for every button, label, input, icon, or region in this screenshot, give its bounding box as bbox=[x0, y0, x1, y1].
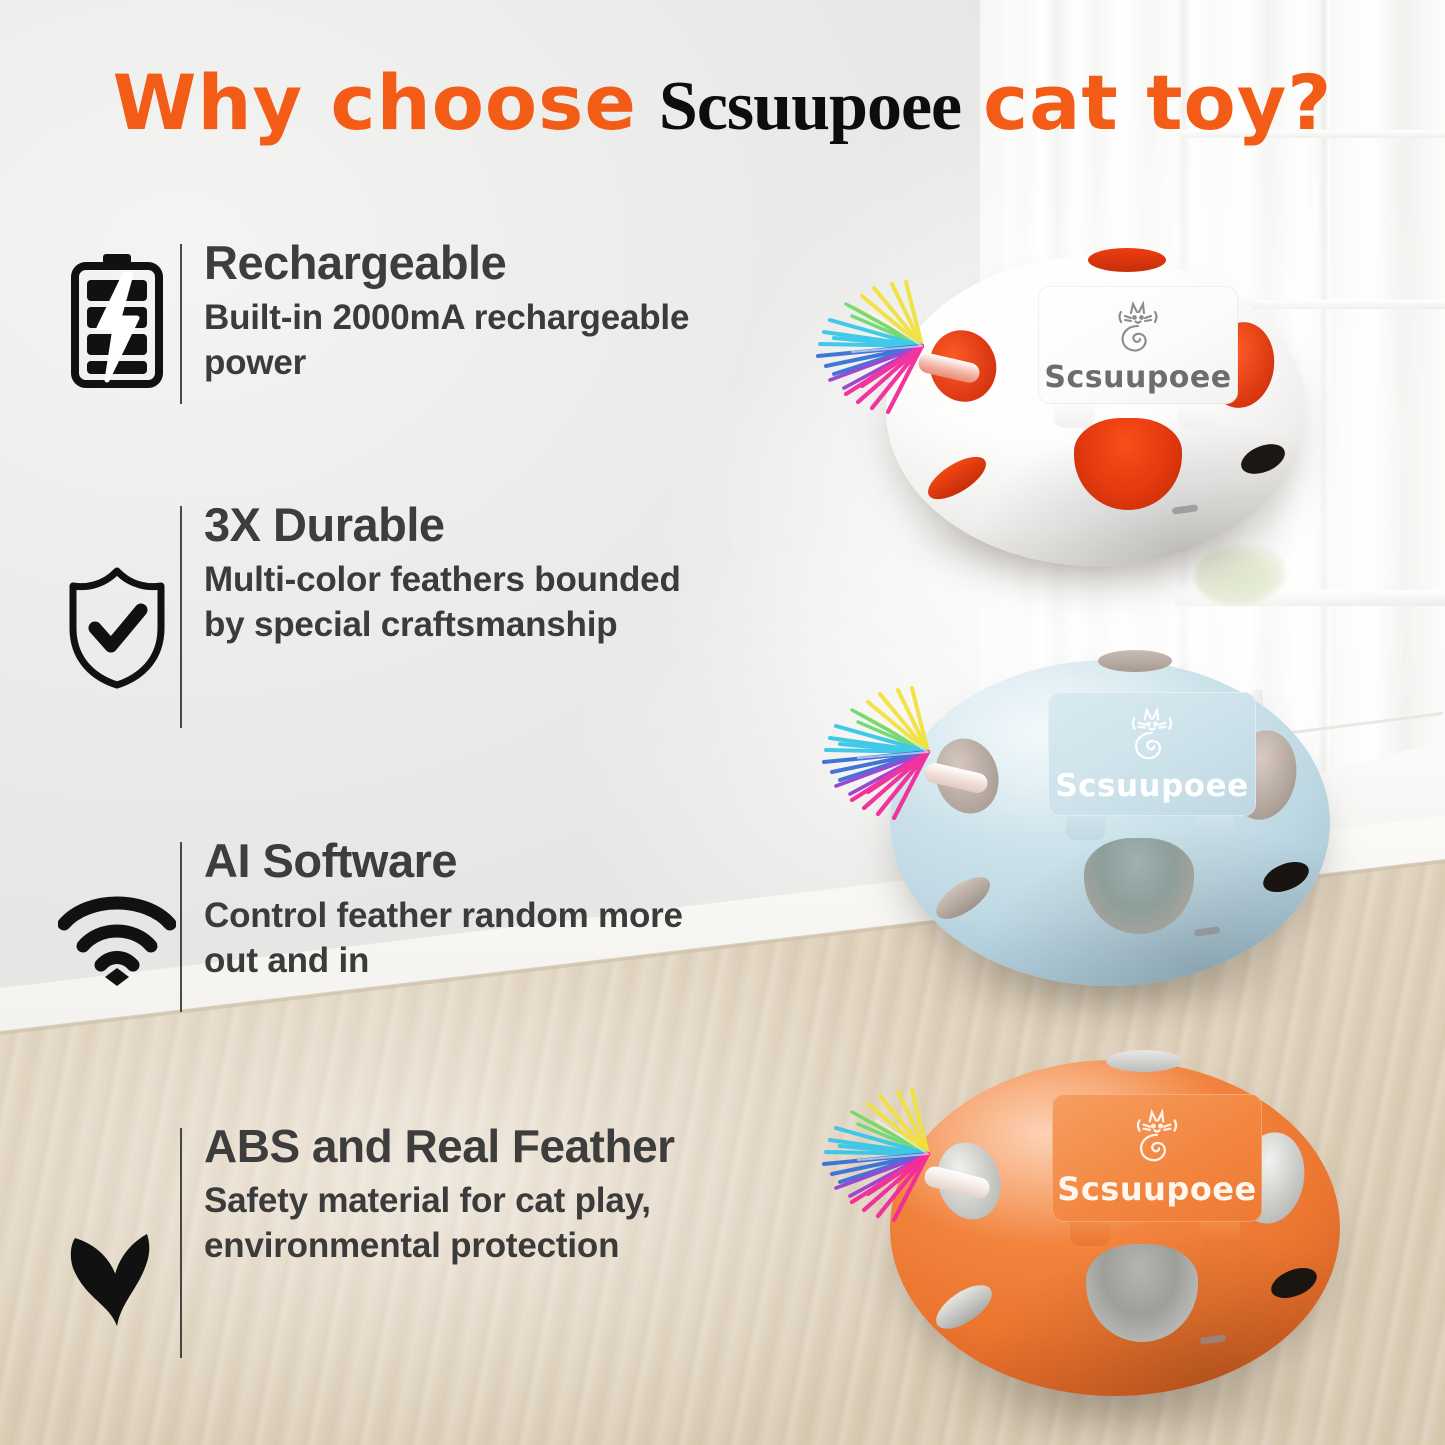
toy-hole-top bbox=[1088, 248, 1166, 272]
wifi-icon bbox=[58, 836, 176, 986]
feature-divider bbox=[180, 842, 182, 1012]
brand-wordmark: Scsuupoee bbox=[1038, 360, 1238, 395]
feature-description: Control feather random more out and in bbox=[204, 893, 724, 984]
title-brand: Scsuupoee bbox=[659, 68, 961, 145]
infographic-canvas: Why chooseScsuupoeecat toy? Rechargeable… bbox=[0, 0, 1445, 1445]
toy-lid-notch-left bbox=[1066, 816, 1106, 840]
rainbow-feather bbox=[806, 1084, 976, 1224]
feature-description: Safety material for cat play, environmen… bbox=[204, 1178, 674, 1269]
toy-lid-notch-right bbox=[1194, 816, 1234, 840]
leaf-icon bbox=[58, 1122, 176, 1330]
orange-cat-toy: Scsuupoee bbox=[820, 1046, 1380, 1436]
blue-cat-toy: Scsuupoee bbox=[828, 646, 1368, 1016]
brand-cat-logo bbox=[1123, 1108, 1191, 1168]
feature-description: Multi-color feathers bounded by special … bbox=[204, 557, 718, 648]
rainbow-feather bbox=[800, 276, 970, 416]
feature-title: ABS and Real Feather bbox=[204, 1122, 778, 1172]
feature-divider bbox=[180, 244, 182, 404]
feature-title: Rechargeable bbox=[204, 238, 718, 289]
white-cat-toy: Scsuupoee bbox=[858, 238, 1318, 568]
toy-lid-notch-left bbox=[1054, 404, 1094, 428]
feature-title: AI Software bbox=[204, 836, 738, 887]
brand-cat-logo bbox=[1118, 706, 1186, 766]
feature-ai-software: AI Software Control feather random more … bbox=[58, 836, 738, 1012]
feature-abs-real-feather: ABS and Real Feather Safety material for… bbox=[58, 1122, 778, 1358]
feature-divider bbox=[180, 1128, 182, 1358]
toy-lid-notch-left bbox=[1070, 1222, 1110, 1246]
brand-wordmark: Scsuupoee bbox=[1048, 768, 1256, 804]
feature-title: 3X Durable bbox=[204, 500, 718, 551]
toy-lid-notch-right bbox=[1178, 404, 1218, 428]
brand-wordmark: Scsuupoee bbox=[1052, 1170, 1262, 1208]
feature-description: Built-in 2000mA rechargeable power bbox=[204, 295, 718, 386]
feature-divider bbox=[180, 506, 182, 728]
battery-icon bbox=[58, 238, 176, 388]
feature-rechargeable: Rechargeable Built-in 2000mA rechargeabl… bbox=[58, 238, 718, 404]
title-part-2: cat toy? bbox=[983, 58, 1332, 147]
title-part-1: Why choose bbox=[113, 58, 637, 147]
toy-lid-notch-right bbox=[1200, 1222, 1240, 1246]
rainbow-feather bbox=[806, 682, 976, 822]
page-title: Why chooseScsuupoeecat toy? bbox=[0, 58, 1445, 147]
shield-check-icon bbox=[58, 500, 176, 690]
feature-durable: 3X Durable Multi-color feathers bounded … bbox=[58, 500, 718, 728]
brand-cat-logo bbox=[1105, 300, 1171, 358]
toy-hole-top bbox=[1106, 1050, 1182, 1072]
toy-hole-top bbox=[1098, 650, 1172, 672]
